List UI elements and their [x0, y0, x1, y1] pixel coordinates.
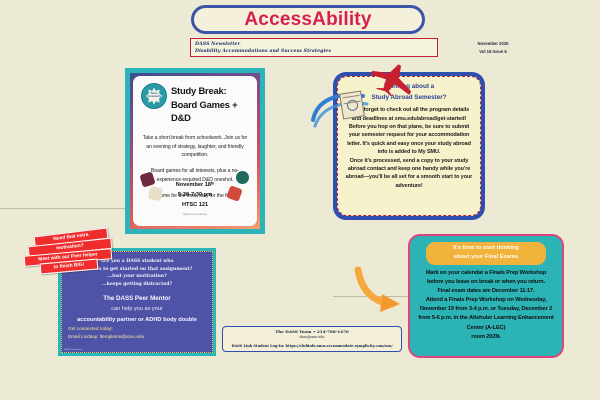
footer-link[interactable]: DASS Link Student Log-In: https://clubin… [223, 344, 401, 350]
mentor-contact-email[interactable]: Email Lindsay: ltempleton@smu.edu [68, 333, 144, 342]
footer-email[interactable]: dass@smu.edu [223, 335, 401, 340]
footer: The DASS Team • 214-768-1470 dass@smu.ed… [222, 326, 402, 352]
finals-paragraph-4: room 202N. [417, 333, 555, 342]
study-abroad-section: Thinking about a Study Abroad Semester? … [333, 72, 485, 220]
poster-gradient-border: Texas Community Study Break: Board Games… [130, 73, 260, 229]
poster-title-line-1: Study Break: [171, 84, 249, 98]
newsletter-title-banner: AccessAbility [191, 5, 425, 34]
abroad-paragraph-3: Once it's processed, send a copy to your… [345, 157, 473, 190]
masthead-line-1: DASS Newsletter [195, 41, 437, 48]
masthead: DASS Newsletter Disability Accommodation… [190, 38, 438, 57]
poster-paragraph-1: Take a short break from schoolwork. Join… [141, 134, 249, 160]
mentor-roles: accountability partner or ADHD body doub… [67, 315, 207, 326]
finals-badge-line-1: It's time to start thinking [430, 244, 542, 253]
finals-badge-line-2: about your Final Exams [430, 253, 542, 262]
finals-prep-badge: It's time to start thinking about your F… [426, 242, 546, 265]
newsletter-page: AccessAbility DASS Newsletter Disability… [0, 0, 600, 400]
finals-paragraph-2: Final exam dates are December 11-17. [417, 287, 555, 296]
poster-event-details: November 18ᵗʰ 5:30-7:30 pm HTSC 121 Stud… [133, 181, 257, 217]
mentor-cta-line-1: Get connected today! [68, 325, 144, 334]
poster-card: Texas Community Study Break: Board Games… [133, 76, 257, 226]
poster-title-line-2: Board Games + D&D [171, 98, 249, 125]
peer-mentor-cta: Get connected today! Email Lindsay: ltem… [68, 325, 144, 342]
page-title: AccessAbility [244, 10, 371, 29]
mentor-subline: can help you as your [67, 305, 207, 315]
masthead-line-2: Disability Accommodations and Success St… [195, 48, 437, 55]
study-break-poster: Texas Community Study Break: Board Games… [125, 68, 265, 234]
poster-date: November 18ᵗʰ [133, 181, 257, 191]
mentor-headline: The DASS Peer Mentor [67, 293, 207, 305]
issue-number: Vol 18 Issue 6 [458, 48, 528, 56]
finals-prep-section: It's time to start thinking about your F… [408, 234, 564, 358]
motivation-sticker: Need that extra motivation? Meet with ou… [18, 230, 118, 272]
seal-label: Texas Community [146, 93, 163, 99]
poster-sub-note: Student Life Learning [133, 213, 257, 217]
finals-paragraph-3: Attend a Finals Prep Workshop on Wednesd… [417, 296, 555, 333]
poster-location: HTSC 121 [133, 201, 257, 211]
curved-arrow-icon [352, 266, 404, 314]
mentor-question-3: ...lost your motivation? [67, 273, 207, 281]
finals-prep-body: Mark on your calendar a Finals Prep Work… [417, 269, 555, 342]
poster-header: Texas Community Study Break: Board Games… [141, 83, 249, 125]
peer-mentor-message: The DASS Peer Mentor can help you as you… [67, 293, 207, 325]
boarding-pass-icon [339, 90, 365, 119]
mentor-corner-note: DASS Peer Mentor [64, 349, 83, 351]
poster-title: Study Break: Board Games + D&D [171, 83, 249, 125]
divider-left [0, 208, 128, 209]
airplane-icon [371, 62, 417, 96]
star-badge-icon: Texas Community [146, 88, 163, 105]
finals-paragraph-1: Mark on your calendar a Finals Prep Work… [417, 269, 555, 287]
mentor-question-4: ...keeps getting distracted? [67, 281, 207, 289]
poster-time: 5:30-7:30 pm [133, 191, 257, 201]
issue-info: November 2025 Vol 18 Issue 6 [458, 40, 528, 56]
issue-date: November 2025 [458, 40, 528, 48]
seal-icon: Texas Community [141, 83, 167, 109]
